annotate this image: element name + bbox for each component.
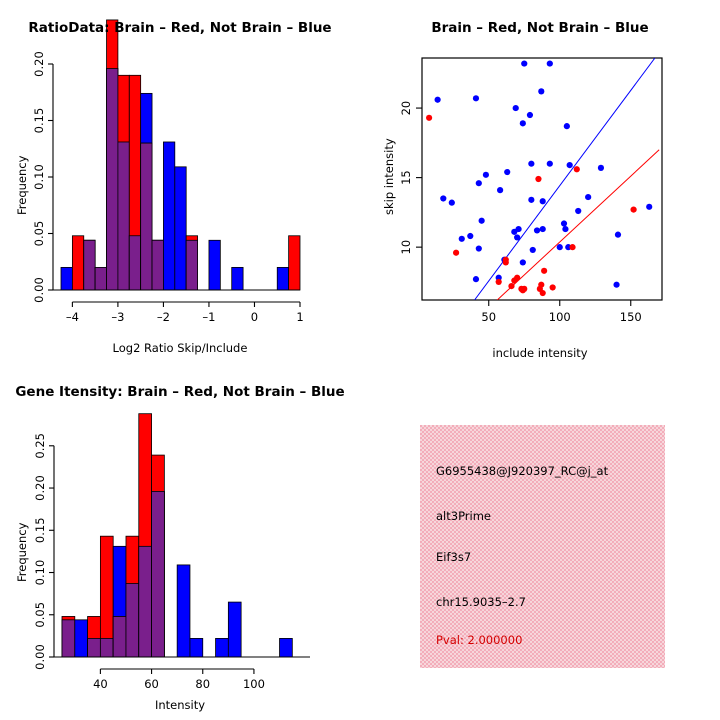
scatter-point <box>459 236 465 242</box>
scatter-point <box>476 245 482 251</box>
ratio-x-axis: –4–3–2–101 <box>66 302 304 324</box>
histogram-bar-overlap <box>107 69 118 290</box>
histogram-bar-blue <box>175 167 186 290</box>
scatter-point <box>615 232 621 238</box>
histogram-bar-overlap <box>152 240 163 290</box>
histogram-bar-blue <box>75 620 88 657</box>
scatter-point <box>521 60 527 66</box>
panel-gene-histogram: Gene Itensity: Brain – Red, Not Brain – … <box>0 360 360 720</box>
histogram-bar-overlap <box>141 143 152 290</box>
histogram-bar-overlap <box>95 267 106 290</box>
histogram-bar-overlap <box>84 240 95 290</box>
scatter-point <box>541 268 547 274</box>
y-tick-label: 0.05 <box>33 602 47 628</box>
histogram-bar-overlap <box>139 546 152 657</box>
scatter-point <box>530 247 536 253</box>
scatter-ylabel: skip intensity <box>382 138 396 215</box>
scatter-point <box>550 284 556 290</box>
scatter-point <box>503 259 509 265</box>
scatter-point <box>435 97 441 103</box>
x-tick-label: 100 <box>549 310 571 324</box>
histogram-bar-overlap <box>62 620 75 657</box>
scatter-point <box>598 165 604 171</box>
scatter-point <box>547 161 553 167</box>
scatter-point <box>520 287 526 293</box>
scatter-point <box>508 283 514 289</box>
y-tick-label: 20 <box>399 101 413 116</box>
scatter-point <box>547 60 553 66</box>
info-line-probeset: G6955438@J920397_RC@j_at <box>436 464 608 478</box>
gene-y-axis: 0.000.050.100.150.200.25 <box>33 433 54 670</box>
scatter-point <box>569 244 575 250</box>
histogram-bar-blue <box>277 267 288 290</box>
y-tick-label: 0.05 <box>32 221 46 247</box>
histogram-bar-red <box>72 236 83 290</box>
x-tick-label: 1 <box>296 310 303 324</box>
regression-line <box>497 150 659 300</box>
scatter-point <box>528 197 534 203</box>
info-line-pval: Pval: 2.000000 <box>436 633 522 647</box>
gene-x-axis: 406080100 <box>93 669 265 691</box>
scatter-point <box>535 176 541 182</box>
histogram-bar-overlap <box>129 236 140 290</box>
panel-intensity-scatter: Brain – Red, Not Brain – Blue 1015205010… <box>360 0 720 360</box>
scatter-point <box>575 208 581 214</box>
scatter-point <box>473 276 479 282</box>
histogram-bar-blue <box>280 638 293 657</box>
x-tick-label: –4 <box>66 310 79 324</box>
y-tick-label: 10 <box>399 240 413 255</box>
scatter-point <box>467 233 473 239</box>
scatter-point <box>504 169 510 175</box>
panel-ratio-histogram: RatioData: Brain – Red, Not Brain – Blue… <box>0 0 360 360</box>
scatter-y-axis: 101520 <box>399 101 422 255</box>
y-tick-label: 15 <box>399 170 413 185</box>
info-line-locus: chr15.9035–2.7 <box>436 595 526 609</box>
scatter-point <box>473 95 479 101</box>
scatter-point <box>449 200 455 206</box>
x-tick-label: 0 <box>251 310 258 324</box>
panel-texture <box>420 425 665 668</box>
y-tick-label: 0.00 <box>32 277 46 303</box>
histogram-bar-blue <box>209 240 220 290</box>
y-tick-label: 0.00 <box>33 644 47 670</box>
x-tick-label: 40 <box>93 677 108 691</box>
scatter-xlabel: include intensity <box>360 346 720 360</box>
y-tick-label: 0.10 <box>32 164 46 190</box>
x-tick-label: –3 <box>111 310 124 324</box>
scatter-point <box>562 226 568 232</box>
ratio-histogram-plot: 0.000.050.100.150.20–4–3–2–101 <box>0 0 360 360</box>
scatter-point <box>557 244 563 250</box>
scatter-point <box>483 172 489 178</box>
x-tick-label: 100 <box>243 677 265 691</box>
scatter-point <box>520 259 526 265</box>
scatter-point <box>497 187 503 193</box>
gene-histogram-xlabel: Intensity <box>0 698 360 712</box>
scatter-point <box>515 226 521 232</box>
ratio-y-axis: 0.000.050.100.150.20 <box>32 51 53 303</box>
histogram-bar-blue <box>163 142 174 290</box>
histogram-bar-red <box>289 236 300 290</box>
scatter-point <box>440 195 446 201</box>
x-tick-label: 80 <box>195 677 210 691</box>
scatter-point <box>520 120 526 126</box>
y-tick-label: 0.20 <box>33 475 47 501</box>
scatter-point <box>540 290 546 296</box>
scatter-plot: 10152050100150 <box>360 0 720 360</box>
scatter-point <box>646 204 652 210</box>
gene-histogram-ylabel: Frequency <box>15 523 29 582</box>
y-tick-label: 0.15 <box>33 517 47 543</box>
histogram-bar-blue <box>228 602 241 657</box>
scatter-point <box>630 206 636 212</box>
scatter-point <box>528 161 534 167</box>
info-line-event-type: alt3Prime <box>436 509 491 523</box>
histogram-bar-overlap <box>88 638 101 657</box>
gene-info-panel: G6955438@J920397_RC@j_at alt3Prime Eif3s… <box>420 425 665 668</box>
gene-bars <box>62 414 292 657</box>
histogram-bar-blue <box>61 267 72 290</box>
histogram-bar-blue <box>190 638 203 657</box>
scatter-title: Brain – Red, Not Brain – Blue <box>360 20 720 36</box>
scatter-point <box>479 218 485 224</box>
info-line-gene-symbol: Eif3s7 <box>436 550 471 564</box>
scatter-point <box>564 123 570 129</box>
histogram-bar-overlap <box>113 616 126 657</box>
gene-histogram-title: Gene Itensity: Brain – Red, Not Brain – … <box>0 384 360 400</box>
scatter-point <box>514 275 520 281</box>
scatter-point <box>561 220 567 226</box>
y-tick-label: 0.20 <box>32 51 46 77</box>
histogram-bar-blue <box>216 638 229 657</box>
x-tick-label: 150 <box>620 310 642 324</box>
scatter-point <box>585 194 591 200</box>
scatter-point <box>527 112 533 118</box>
scatter-point <box>453 250 459 256</box>
x-tick-label: –1 <box>202 310 215 324</box>
plot-canvas: RatioData: Brain – Red, Not Brain – Blue… <box>0 0 720 720</box>
scatter-point <box>496 279 502 285</box>
y-tick-label: 0.10 <box>33 560 47 586</box>
scatter-point <box>514 234 520 240</box>
gene-histogram-plot: 0.000.050.100.150.200.25406080100 <box>0 360 360 720</box>
scatter-x-axis: 50100150 <box>481 300 641 324</box>
scatter-point <box>426 115 432 121</box>
y-tick-label: 0.25 <box>33 433 47 459</box>
scatter-point <box>534 227 540 233</box>
scatter-point <box>513 105 519 111</box>
scatter-point <box>476 180 482 186</box>
x-tick-label: 60 <box>144 677 159 691</box>
ratio-histogram-title: RatioData: Brain – Red, Not Brain – Blue <box>0 20 360 36</box>
scatter-point <box>540 198 546 204</box>
y-tick-label: 0.15 <box>32 108 46 134</box>
histogram-bar-blue <box>232 267 243 290</box>
x-tick-label: –2 <box>157 310 170 324</box>
ratio-histogram-ylabel: Frequency <box>15 156 29 215</box>
scatter-point <box>574 166 580 172</box>
histogram-bar-overlap <box>152 491 165 657</box>
ratio-bars <box>61 20 300 290</box>
scatter-point <box>538 88 544 94</box>
x-tick-label: 50 <box>481 310 496 324</box>
histogram-bar-blue <box>177 565 190 657</box>
scatter-point <box>567 162 573 168</box>
regression-lines <box>475 58 660 300</box>
histogram-bar-overlap <box>186 240 197 290</box>
histogram-bar-overlap <box>126 584 139 658</box>
scatter-point <box>613 282 619 288</box>
scatter-point <box>540 226 546 232</box>
histogram-bar-overlap <box>100 638 113 657</box>
ratio-histogram-xlabel: Log2 Ratio Skip/Include <box>0 341 360 355</box>
histogram-bar-overlap <box>118 142 129 290</box>
